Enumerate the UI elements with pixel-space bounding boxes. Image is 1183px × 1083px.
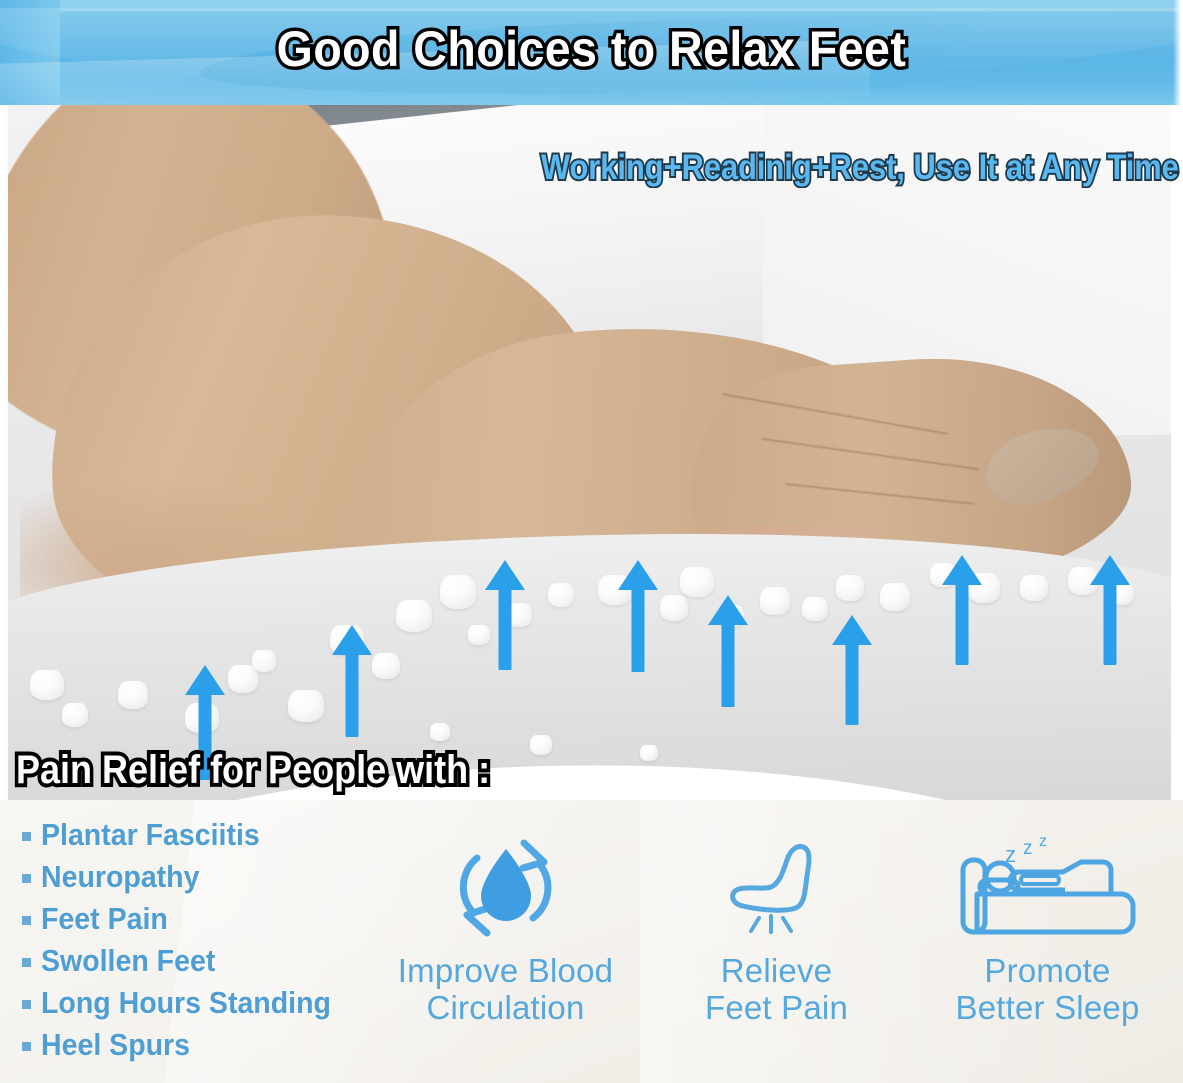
feature-label-line2: Circulation — [398, 990, 613, 1027]
condition-label: Feet Pain — [41, 901, 168, 937]
bullet-square-icon — [22, 916, 31, 925]
pressure-arrow-up-icon — [485, 560, 525, 670]
massage-nub — [836, 575, 864, 601]
massage-nub — [252, 650, 276, 672]
pressure-arrow-up-icon — [618, 560, 658, 672]
photo-subheadline: Working+Readinig+Rest, Use It at Any Tim… — [541, 148, 1179, 188]
bullet-square-icon — [22, 958, 31, 967]
conditions-list: Plantar FasciitisNeuropathyFeet PainSwol… — [22, 814, 382, 1066]
massage-nub — [288, 690, 324, 722]
condition-list-item: Feet Pain — [22, 898, 382, 940]
massage-nub — [440, 575, 476, 609]
condition-label: Swollen Feet — [41, 943, 215, 979]
massage-nub — [118, 681, 148, 709]
massage-nub — [30, 670, 64, 700]
condition-label: Neuropathy — [41, 859, 199, 895]
condition-list-item: Heel Spurs — [22, 1024, 382, 1066]
massage-nub — [1020, 575, 1048, 601]
feature-label: Relieve Feet Pain — [705, 953, 848, 1027]
arrow-shaft — [846, 641, 859, 725]
arrow-shaft — [632, 586, 645, 672]
massage-nub — [760, 587, 790, 615]
pressure-arrow-up-icon — [332, 625, 372, 737]
zzz-mid: z — [1023, 838, 1033, 859]
bullet-square-icon — [22, 1042, 31, 1051]
pressure-arrow-up-icon — [942, 555, 982, 665]
feature-label-line1: Improve Blood — [398, 953, 613, 990]
massage-nub — [372, 653, 400, 679]
condition-label: Heel Spurs — [41, 1027, 190, 1063]
massage-nub — [680, 567, 714, 597]
pain-relief-heading: Pain Relief for People with : — [16, 748, 490, 793]
massage-nub — [548, 583, 574, 607]
banner-title: Good Choices to Relax Feet — [41, 20, 1141, 78]
feature-label-line1: Relieve — [705, 953, 848, 990]
arrow-shaft — [499, 586, 512, 670]
massage-nub — [660, 595, 688, 621]
product-photo — [0, 105, 1183, 805]
arrow-head — [942, 555, 982, 585]
feature-label-line2: Feet Pain — [705, 990, 848, 1027]
product-infographic: Good Choices to Relax Feet Working+Readi… — [0, 0, 1183, 1083]
condition-list-item: Long Hours Standing — [22, 982, 382, 1024]
condition-list-item: Plantar Fasciitis — [22, 814, 382, 856]
water-drop-recycle-icon — [441, 830, 571, 945]
massage-nub — [430, 723, 450, 741]
benefits-panel: Plantar FasciitisNeuropathyFeet PainSwol… — [0, 800, 1183, 1083]
feature-label: Promote Better Sleep — [955, 953, 1139, 1027]
bullet-square-icon — [22, 1000, 31, 1009]
pressure-arrow-up-icon — [708, 595, 748, 707]
massage-nub — [802, 597, 828, 621]
arrow-head — [708, 595, 748, 625]
zzz-big: z — [1039, 833, 1047, 850]
massage-nub — [396, 600, 432, 632]
pressure-arrow-up-icon — [832, 615, 872, 725]
feature-relieve-feet-pain: Relieve Feet Pain — [641, 830, 912, 1027]
photo-left-margin — [0, 105, 8, 805]
feature-label-line1: Promote — [955, 953, 1139, 990]
photo-right-margin — [1171, 105, 1183, 805]
feature-label: Improve Blood Circulation — [398, 953, 613, 1027]
bullet-square-icon — [22, 832, 31, 841]
arrow-head — [185, 665, 225, 695]
condition-list-item: Neuropathy — [22, 856, 382, 898]
feature-improve-blood-circulation: Improve Blood Circulation — [370, 830, 641, 1027]
arrow-head — [1090, 555, 1130, 585]
condition-label: Long Hours Standing — [41, 985, 331, 1021]
feature-label-line2: Better Sleep — [955, 990, 1139, 1027]
sleeping-person-bed-icon: z z z — [953, 830, 1143, 945]
massage-nub — [880, 583, 910, 611]
bullet-square-icon — [22, 874, 31, 883]
condition-list-item: Swollen Feet — [22, 940, 382, 982]
arrow-head — [832, 615, 872, 645]
massage-nub — [62, 703, 88, 727]
arrow-head — [618, 560, 658, 590]
banner-right-edge — [1173, 0, 1183, 108]
massage-nub — [530, 735, 552, 755]
arrow-shaft — [956, 581, 969, 665]
massage-nub — [640, 745, 658, 761]
pressure-arrow-up-icon — [1090, 555, 1130, 665]
condition-label: Plantar Fasciitis — [41, 817, 260, 853]
benefit-features: Improve Blood Circulation Relieve Feet P… — [370, 830, 1183, 1083]
arrow-shaft — [346, 651, 359, 737]
feature-promote-better-sleep: z z z Promote Better Sleep — [912, 830, 1183, 1027]
arrow-shaft — [1104, 581, 1117, 665]
arrow-head — [332, 625, 372, 655]
foot-pain-relief-icon — [713, 830, 841, 945]
arrow-head — [485, 560, 525, 590]
arrow-shaft — [722, 621, 735, 707]
